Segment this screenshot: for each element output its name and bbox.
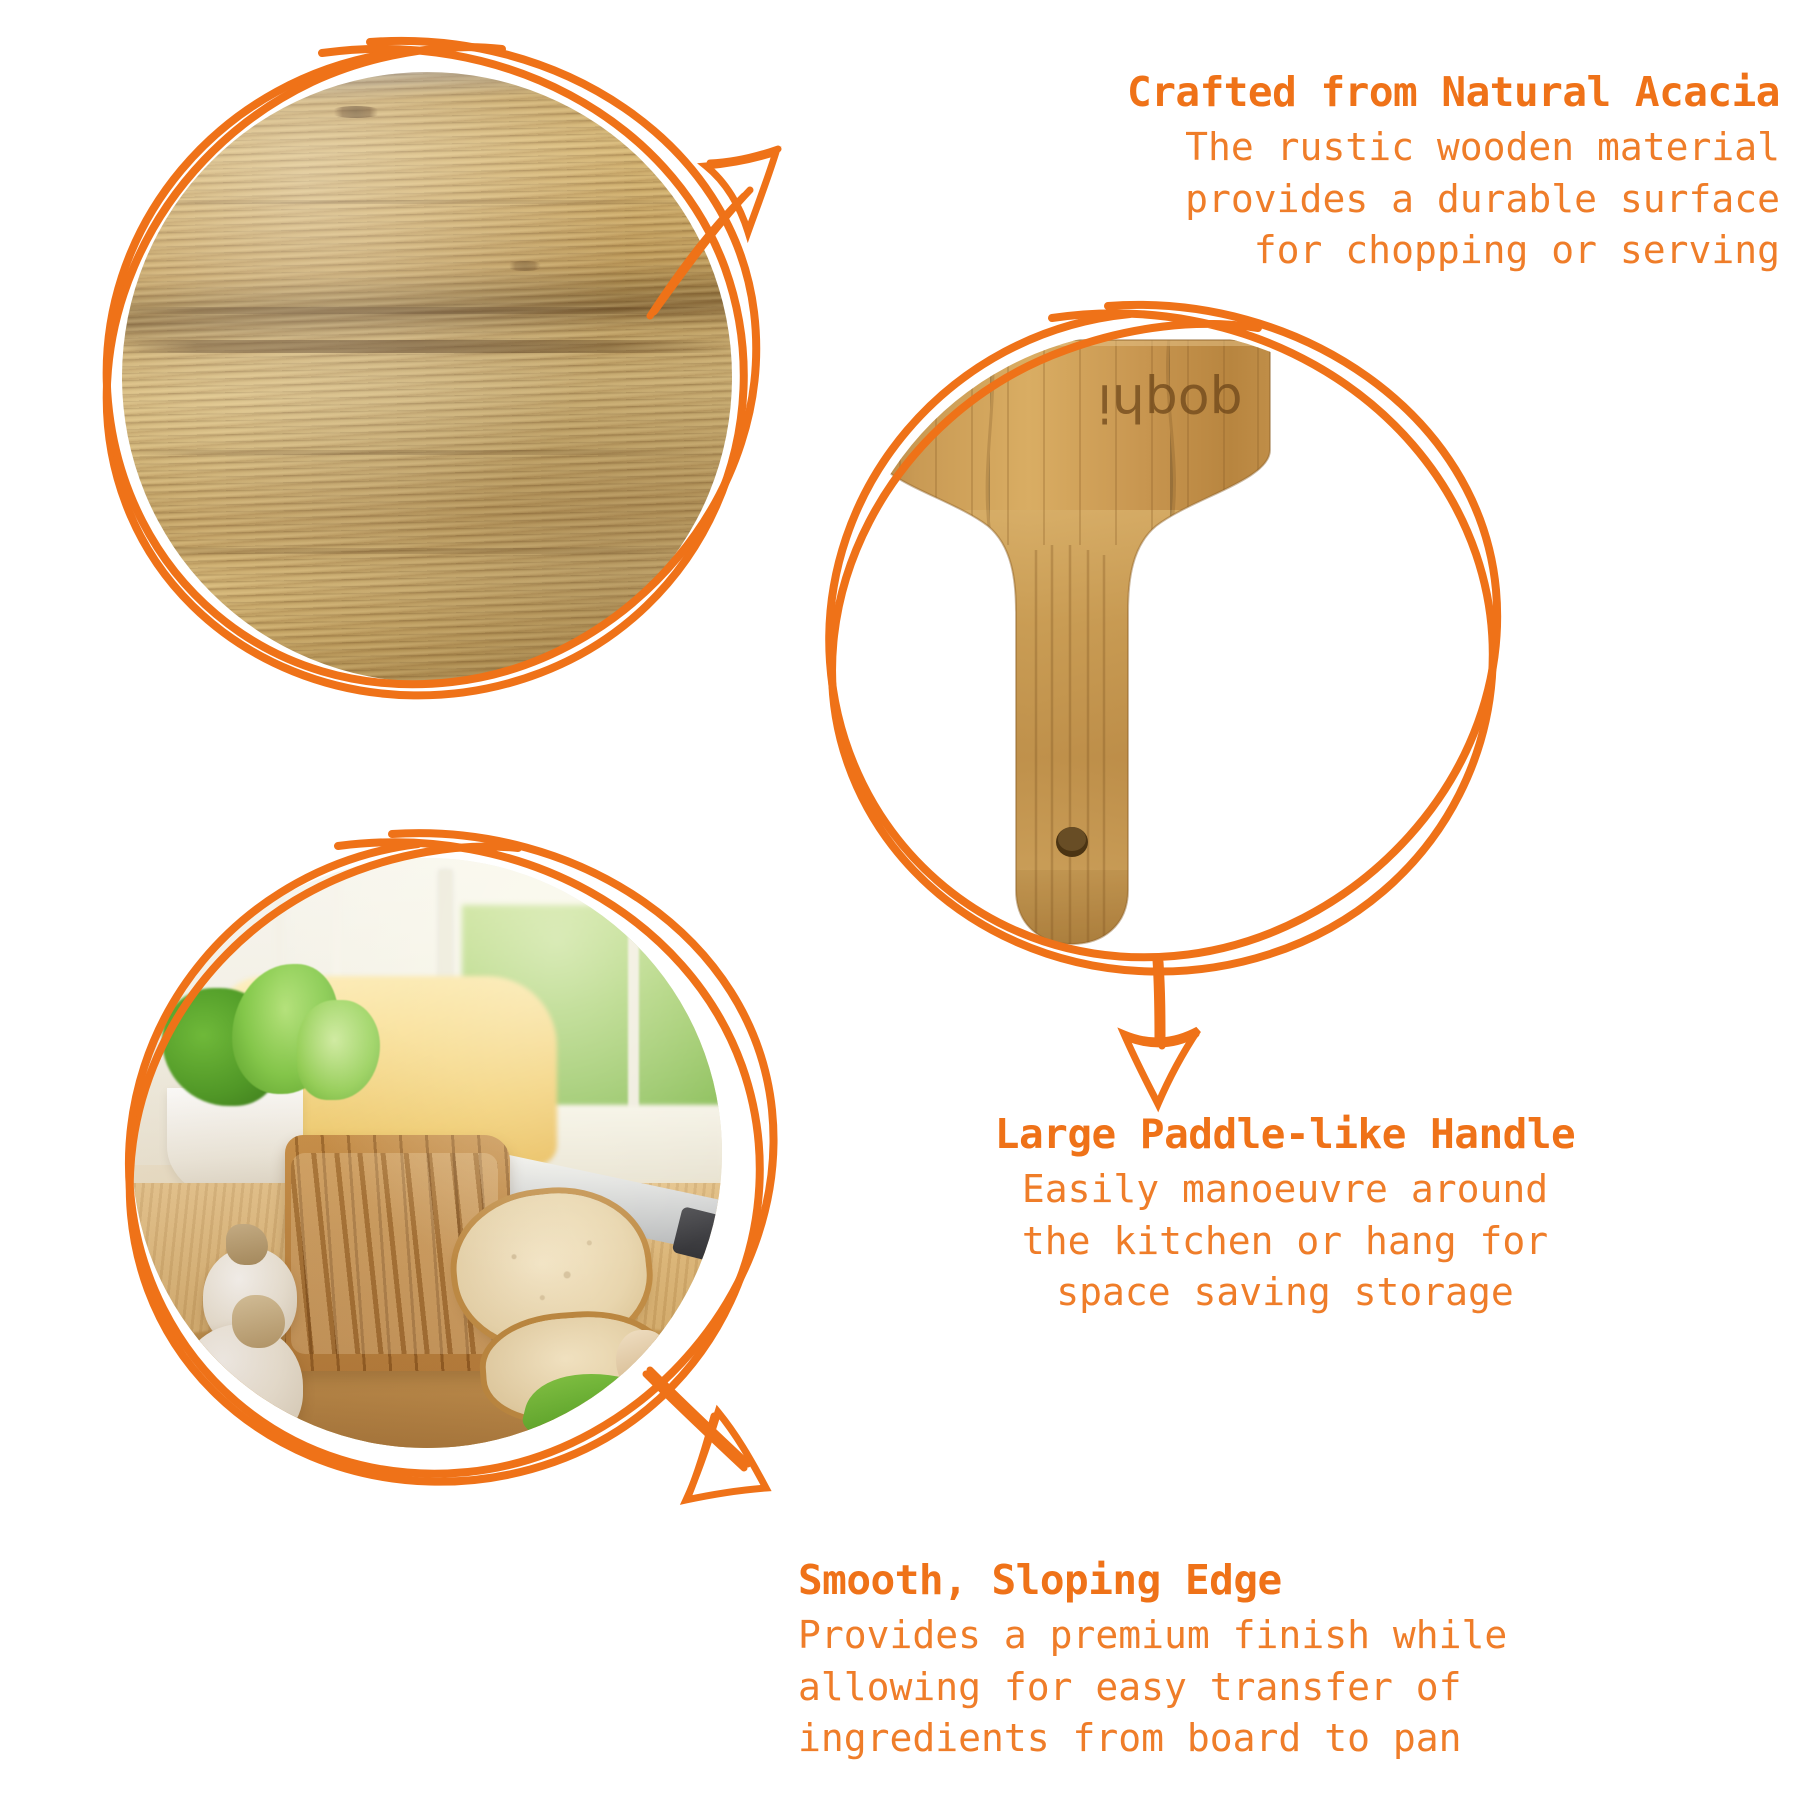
feature-body-line: allowing for easy transfer of [798,1662,1788,1714]
feature-heading-acacia: Crafted from Natural Acacia [770,68,1780,116]
feature-body-line: Provides a premium finish while [798,1610,1788,1662]
feature-block-acacia: Crafted from Natural Acacia The rustic w… [770,68,1780,277]
photo-paddle-handle: qoqhi [840,330,1470,960]
feature-body-line: for chopping or serving [770,225,1780,277]
feature-body-handle: Easily manoeuvre around the kitchen or h… [790,1164,1780,1319]
photo-wood-closeup [122,72,732,682]
feature-block-handle: Large Paddle-like Handle Easily manoeuvr… [790,1110,1780,1319]
feature-block-edge: Smooth, Sloping Edge Provides a premium … [798,1556,1788,1765]
brand-logo-text: qoqhi [1097,372,1242,432]
feature-body-acacia: The rustic wooden material provides a du… [770,122,1780,277]
feature-body-line: provides a durable surface [770,174,1780,226]
feature-body-edge: Provides a premium finish while allowing… [798,1610,1788,1765]
feature-body-line: space saving storage [790,1267,1780,1319]
paddle-illustration: qoqhi [840,330,1470,960]
photo-bread-scene [132,858,722,1448]
feature-body-line: Easily manoeuvre around [790,1164,1780,1216]
feature-heading-handle: Large Paddle-like Handle [790,1110,1780,1158]
feature-body-line: ingredients from board to pan [798,1713,1788,1765]
arrow-down-icon [1072,960,1252,1110]
feature-body-line: the kitchen or hang for [790,1216,1780,1268]
infographic-canvas: Crafted from Natural Acacia The rustic w… [0,0,1800,1800]
feature-heading-edge: Smooth, Sloping Edge [798,1556,1788,1604]
feature-body-line: The rustic wooden material [770,122,1780,174]
